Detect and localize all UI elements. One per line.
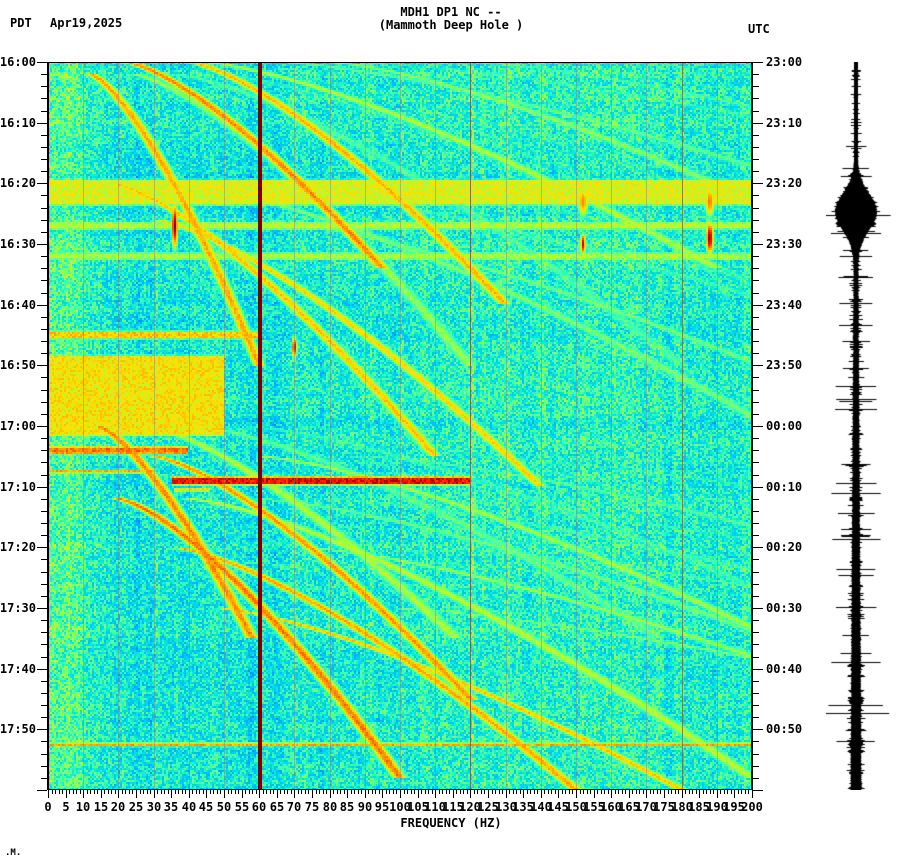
y-tick-minor-right xyxy=(753,195,759,196)
x-tick-minor xyxy=(660,790,661,794)
x-tick-major xyxy=(664,790,665,798)
y-tick-minor-right xyxy=(753,705,759,706)
x-tick-minor xyxy=(129,790,130,794)
y-tick-minor-right xyxy=(753,256,759,257)
x-axis-label: 85 xyxy=(340,800,354,814)
x-tick-minor xyxy=(372,790,373,794)
x-tick-major xyxy=(488,790,489,798)
y-tick-major-left xyxy=(37,608,47,609)
x-tick-minor xyxy=(97,790,98,794)
x-tick-major xyxy=(347,790,348,798)
x-tick-minor xyxy=(386,790,387,794)
x-tick-minor xyxy=(122,790,123,794)
x-axis-label: 90 xyxy=(358,800,372,814)
y-tick-minor-right xyxy=(753,341,759,342)
y-tick-minor-left xyxy=(41,159,47,160)
x-tick-minor xyxy=(639,790,640,794)
x-tick-minor xyxy=(463,790,464,794)
y-tick-minor-right xyxy=(753,741,759,742)
x-tick-minor xyxy=(217,790,218,794)
x-tick-minor xyxy=(266,790,267,794)
x-axis-label: 45 xyxy=(199,800,213,814)
y-tick-minor-right xyxy=(753,450,759,451)
x-tick-minor xyxy=(361,790,362,794)
x-tick-minor xyxy=(301,790,302,794)
x-tick-minor xyxy=(618,790,619,794)
x-tick-minor xyxy=(379,790,380,794)
x-tick-major xyxy=(330,790,331,798)
x-tick-major xyxy=(66,790,67,798)
x-axis-label: 55 xyxy=(235,800,249,814)
x-tick-minor xyxy=(143,790,144,794)
x-tick-minor xyxy=(263,790,264,794)
x-tick-minor xyxy=(569,790,570,794)
x-tick-major xyxy=(206,790,207,798)
y-tick-minor-left xyxy=(41,523,47,524)
x-tick-minor xyxy=(178,790,179,794)
y-tick-major-right xyxy=(753,608,763,609)
y-tick-minor-right xyxy=(753,499,759,500)
x-tick-major xyxy=(611,790,612,798)
x-tick-minor xyxy=(502,790,503,794)
x-axis-label: 30 xyxy=(147,800,161,814)
y-tick-minor-right xyxy=(753,511,759,512)
y-tick-minor-left xyxy=(41,74,47,75)
x-tick-minor xyxy=(703,790,704,794)
x-tick-minor xyxy=(298,790,299,794)
x-tick-minor xyxy=(411,790,412,794)
x-tick-minor xyxy=(481,790,482,794)
x-tick-minor xyxy=(499,790,500,794)
x-tick-minor xyxy=(587,790,588,794)
y-tick-minor-right xyxy=(753,438,759,439)
x-tick-minor xyxy=(108,790,109,794)
x-tick-major xyxy=(453,790,454,798)
y-tick-minor-left xyxy=(41,450,47,451)
x-tick-minor xyxy=(59,790,60,794)
x-tick-minor xyxy=(228,790,229,794)
y-tick-minor-right xyxy=(753,293,759,294)
x-tick-minor xyxy=(520,790,521,794)
x-tick-major xyxy=(312,790,313,798)
y-tick-minor-left xyxy=(41,402,47,403)
x-tick-major xyxy=(242,790,243,798)
x-tick-minor xyxy=(175,790,176,794)
y-tick-minor-right xyxy=(753,572,759,573)
x-tick-minor xyxy=(252,790,253,794)
y-axis-label-utc: 23:50 xyxy=(766,358,802,372)
y-tick-minor-left xyxy=(41,220,47,221)
y-tick-minor-left xyxy=(41,693,47,694)
y-tick-minor-left xyxy=(41,559,47,560)
y-tick-minor-left xyxy=(41,86,47,87)
x-tick-minor xyxy=(671,790,672,794)
x-tick-major xyxy=(435,790,436,798)
y-axis-label-utc: 23:30 xyxy=(766,237,802,251)
x-tick-major xyxy=(101,790,102,798)
y-tick-major-right xyxy=(753,244,763,245)
x-tick-minor xyxy=(692,790,693,794)
x-tick-minor xyxy=(182,790,183,794)
x-tick-minor xyxy=(544,790,545,794)
x-tick-major xyxy=(470,790,471,798)
x-tick-minor xyxy=(425,790,426,794)
seismogram-trace xyxy=(826,62,892,790)
x-tick-minor xyxy=(368,790,369,794)
y-tick-minor-left xyxy=(41,766,47,767)
x-tick-major xyxy=(523,790,524,798)
x-tick-major xyxy=(646,790,647,798)
y-tick-minor-left xyxy=(41,572,47,573)
y-tick-minor-right xyxy=(753,475,759,476)
x-tick-minor xyxy=(62,790,63,794)
y-tick-minor-right xyxy=(753,693,759,694)
y-tick-minor-right xyxy=(753,135,759,136)
x-tick-major xyxy=(189,790,190,798)
y-tick-minor-right xyxy=(753,98,759,99)
x-tick-minor xyxy=(140,790,141,794)
x-tick-major xyxy=(541,790,542,798)
y-tick-minor-left xyxy=(41,208,47,209)
y-tick-major-right xyxy=(753,487,763,488)
plot-left-border xyxy=(47,62,48,790)
x-axis-label: 5 xyxy=(62,800,69,814)
y-tick-minor-right xyxy=(753,208,759,209)
y-tick-major-left xyxy=(37,487,47,488)
x-tick-minor xyxy=(467,790,468,794)
y-tick-minor-left xyxy=(41,754,47,755)
x-tick-minor xyxy=(530,790,531,794)
x-tick-minor xyxy=(720,790,721,794)
x-tick-minor xyxy=(80,790,81,794)
x-tick-major xyxy=(752,790,753,798)
x-tick-minor xyxy=(115,790,116,794)
y-tick-minor-right xyxy=(753,535,759,536)
y-tick-minor-left xyxy=(41,717,47,718)
x-tick-minor xyxy=(69,790,70,794)
x-tick-minor xyxy=(580,790,581,794)
y-tick-minor-right xyxy=(753,584,759,585)
x-tick-minor xyxy=(308,790,309,794)
y-tick-minor-left xyxy=(41,584,47,585)
x-tick-minor xyxy=(55,790,56,794)
x-tick-minor xyxy=(527,790,528,794)
y-tick-minor-left xyxy=(41,135,47,136)
x-tick-minor xyxy=(484,790,485,794)
y-tick-minor-left xyxy=(41,377,47,378)
x-tick-major xyxy=(594,790,595,798)
y-tick-minor-right xyxy=(753,620,759,621)
x-tick-minor xyxy=(421,790,422,794)
x-tick-minor xyxy=(323,790,324,794)
y-tick-minor-right xyxy=(753,644,759,645)
x-tick-minor xyxy=(404,790,405,794)
y-tick-minor-left xyxy=(41,317,47,318)
y-tick-minor-left xyxy=(41,596,47,597)
y-tick-minor-left xyxy=(41,681,47,682)
y-tick-major-right xyxy=(753,183,763,184)
x-tick-minor xyxy=(657,790,658,794)
y-axis-label-utc: 23:40 xyxy=(766,298,802,312)
x-tick-minor xyxy=(551,790,552,794)
x-tick-minor xyxy=(442,790,443,794)
x-tick-minor xyxy=(273,790,274,794)
x-tick-minor xyxy=(284,790,285,794)
x-tick-minor xyxy=(555,790,556,794)
y-tick-major-left xyxy=(37,62,47,63)
x-tick-minor xyxy=(337,790,338,794)
x-tick-minor xyxy=(439,790,440,794)
y-tick-minor-left xyxy=(41,475,47,476)
x-tick-minor xyxy=(220,790,221,794)
y-tick-minor-left xyxy=(41,232,47,233)
y-tick-major-right xyxy=(753,426,763,427)
x-tick-minor xyxy=(125,790,126,794)
x-tick-minor xyxy=(291,790,292,794)
y-tick-minor-right xyxy=(753,74,759,75)
x-tick-minor xyxy=(210,790,211,794)
y-axis-label-utc: 00:20 xyxy=(766,540,802,554)
y-tick-minor-left xyxy=(41,341,47,342)
y-axis-label-utc: 00:10 xyxy=(766,480,802,494)
x-tick-minor xyxy=(509,790,510,794)
x-tick-major xyxy=(682,790,683,798)
y-tick-minor-right xyxy=(753,353,759,354)
x-tick-minor xyxy=(319,790,320,794)
x-axis-label: 75 xyxy=(305,800,319,814)
y-tick-minor-left xyxy=(41,778,47,779)
x-tick-minor xyxy=(537,790,538,794)
x-axis-label: 15 xyxy=(94,800,108,814)
y-tick-major-right xyxy=(753,547,763,548)
y-tick-major-left xyxy=(37,123,47,124)
x-tick-minor xyxy=(456,790,457,794)
x-tick-minor xyxy=(428,790,429,794)
y-tick-minor-left xyxy=(41,535,47,536)
x-tick-minor xyxy=(203,790,204,794)
y-axis-label-utc: 23:20 xyxy=(766,176,802,190)
y-tick-minor-left xyxy=(41,147,47,148)
x-tick-minor xyxy=(164,790,165,794)
x-tick-major xyxy=(506,790,507,798)
x-tick-minor xyxy=(608,790,609,794)
x-tick-major xyxy=(400,790,401,798)
x-tick-minor xyxy=(516,790,517,794)
y-axis-label-pdt: 16:50 xyxy=(0,358,36,372)
y-tick-minor-right xyxy=(753,414,759,415)
y-tick-minor-right xyxy=(753,596,759,597)
x-tick-minor xyxy=(513,790,514,794)
y-tick-minor-left xyxy=(41,438,47,439)
corner-artifact-mark: .M. xyxy=(5,849,21,858)
x-tick-minor xyxy=(316,790,317,794)
x-tick-minor xyxy=(414,790,415,794)
x-tick-minor xyxy=(94,790,95,794)
x-tick-major xyxy=(294,790,295,798)
x-tick-minor xyxy=(393,790,394,794)
seismogram-canvas xyxy=(826,62,892,790)
x-axis-label: 200 xyxy=(741,800,763,814)
x-tick-minor xyxy=(344,790,345,794)
y-axis-label-utc: 00:30 xyxy=(766,601,802,615)
y-tick-minor-right xyxy=(753,632,759,633)
y-tick-minor-left xyxy=(41,111,47,112)
x-tick-minor xyxy=(738,790,739,794)
x-tick-minor xyxy=(583,790,584,794)
y-axis-label-pdt: 17:20 xyxy=(0,540,36,554)
x-tick-major xyxy=(118,790,119,798)
x-tick-minor xyxy=(157,790,158,794)
x-tick-minor xyxy=(650,790,651,794)
x-tick-minor xyxy=(375,790,376,794)
y-tick-minor-right xyxy=(753,523,759,524)
x-tick-minor xyxy=(492,790,493,794)
x-tick-minor xyxy=(340,790,341,794)
x-tick-minor xyxy=(604,790,605,794)
x-tick-major xyxy=(136,790,137,798)
x-tick-minor xyxy=(245,790,246,794)
y-axis-label-pdt: 16:20 xyxy=(0,176,36,190)
x-tick-minor xyxy=(748,790,749,794)
x-axis-label: 0 xyxy=(44,800,51,814)
x-tick-minor xyxy=(615,790,616,794)
spectrogram-canvas[interactable] xyxy=(48,62,752,790)
y-tick-minor-left xyxy=(41,741,47,742)
x-tick-minor xyxy=(287,790,288,794)
x-tick-major xyxy=(629,790,630,798)
x-axis-label: 95 xyxy=(375,800,389,814)
y-axis-label-pdt: 17:10 xyxy=(0,480,36,494)
y-tick-minor-right xyxy=(753,86,759,87)
frequency-axis-title: FREQUENCY (HZ) xyxy=(0,816,902,830)
x-tick-minor xyxy=(90,790,91,794)
y-tick-minor-left xyxy=(41,353,47,354)
y-tick-major-left xyxy=(37,426,47,427)
y-tick-major-right xyxy=(753,729,763,730)
y-tick-minor-right xyxy=(753,329,759,330)
x-tick-minor xyxy=(601,790,602,794)
x-tick-minor xyxy=(745,790,746,794)
x-tick-minor xyxy=(161,790,162,794)
x-tick-minor xyxy=(653,790,654,794)
x-tick-minor xyxy=(396,790,397,794)
y-tick-minor-left xyxy=(41,632,47,633)
y-tick-minor-left xyxy=(41,280,47,281)
x-tick-minor xyxy=(622,790,623,794)
x-tick-minor xyxy=(104,790,105,794)
y-tick-minor-left xyxy=(41,329,47,330)
x-tick-minor xyxy=(590,790,591,794)
y-tick-minor-left xyxy=(41,171,47,172)
x-tick-minor xyxy=(358,790,359,794)
x-axis-label: 20 xyxy=(111,800,125,814)
x-axis-label: 35 xyxy=(164,800,178,814)
y-tick-minor-right xyxy=(753,462,759,463)
x-tick-minor xyxy=(305,790,306,794)
x-tick-minor xyxy=(731,790,732,794)
x-tick-major xyxy=(699,790,700,798)
x-tick-major xyxy=(734,790,735,798)
y-tick-minor-right xyxy=(753,402,759,403)
time-axis-pdt: 16:0016:1016:2016:3016:4016:5017:0017:10… xyxy=(0,0,48,864)
x-tick-minor xyxy=(710,790,711,794)
y-tick-minor-right xyxy=(753,754,759,755)
y-axis-label-utc: 23:10 xyxy=(766,116,802,130)
x-tick-minor xyxy=(249,790,250,794)
y-tick-minor-right xyxy=(753,220,759,221)
x-tick-minor xyxy=(727,790,728,794)
x-tick-major xyxy=(154,790,155,798)
y-tick-minor-right xyxy=(753,159,759,160)
y-tick-major-left xyxy=(37,305,47,306)
x-tick-minor xyxy=(446,790,447,794)
x-tick-major xyxy=(171,790,172,798)
y-tick-major-left xyxy=(37,365,47,366)
spectrogram-plot[interactable] xyxy=(48,62,752,790)
x-axis-label: 80 xyxy=(323,800,337,814)
x-tick-minor xyxy=(741,790,742,794)
y-tick-minor-right xyxy=(753,317,759,318)
x-tick-minor xyxy=(643,790,644,794)
y-tick-minor-left xyxy=(41,293,47,294)
y-tick-major-right xyxy=(753,669,763,670)
y-tick-minor-right xyxy=(753,681,759,682)
y-tick-minor-right xyxy=(753,280,759,281)
y-axis-label-utc: 23:00 xyxy=(766,55,802,69)
x-tick-minor xyxy=(597,790,598,794)
y-tick-minor-right xyxy=(753,232,759,233)
x-tick-minor xyxy=(199,790,200,794)
x-tick-minor xyxy=(354,790,355,794)
x-tick-minor xyxy=(474,790,475,794)
y-tick-major-right xyxy=(753,123,763,124)
y-tick-major-right xyxy=(753,62,763,63)
y-tick-major-left xyxy=(37,729,47,730)
x-tick-minor xyxy=(280,790,281,794)
x-tick-minor xyxy=(52,790,53,794)
x-axis-label: 65 xyxy=(270,800,284,814)
x-tick-minor xyxy=(689,790,690,794)
x-tick-minor xyxy=(231,790,232,794)
x-tick-minor xyxy=(477,790,478,794)
x-axis-label: 60 xyxy=(252,800,266,814)
x-tick-minor xyxy=(636,790,637,794)
y-tick-major-right xyxy=(753,365,763,366)
x-tick-minor xyxy=(696,790,697,794)
x-tick-minor xyxy=(632,790,633,794)
x-tick-minor xyxy=(235,790,236,794)
x-tick-major xyxy=(83,790,84,798)
y-axis-label-pdt: 17:30 xyxy=(0,601,36,615)
y-tick-minor-right xyxy=(753,717,759,718)
x-tick-minor xyxy=(168,790,169,794)
x-tick-minor xyxy=(675,790,676,794)
x-tick-minor xyxy=(562,790,563,794)
y-tick-minor-left xyxy=(41,644,47,645)
frequency-axis: FREQUENCY (HZ) 0510152025303540455055606… xyxy=(0,790,902,864)
y-axis-label-pdt: 17:40 xyxy=(0,662,36,676)
x-tick-major xyxy=(259,790,260,798)
x-tick-minor xyxy=(534,790,535,794)
y-tick-major-left xyxy=(37,547,47,548)
y-tick-minor-right xyxy=(753,147,759,148)
x-tick-major xyxy=(48,790,49,798)
x-tick-minor xyxy=(196,790,197,794)
y-tick-major-left xyxy=(37,183,47,184)
y-tick-minor-left xyxy=(41,499,47,500)
x-tick-minor xyxy=(713,790,714,794)
y-tick-minor-left xyxy=(41,268,47,269)
